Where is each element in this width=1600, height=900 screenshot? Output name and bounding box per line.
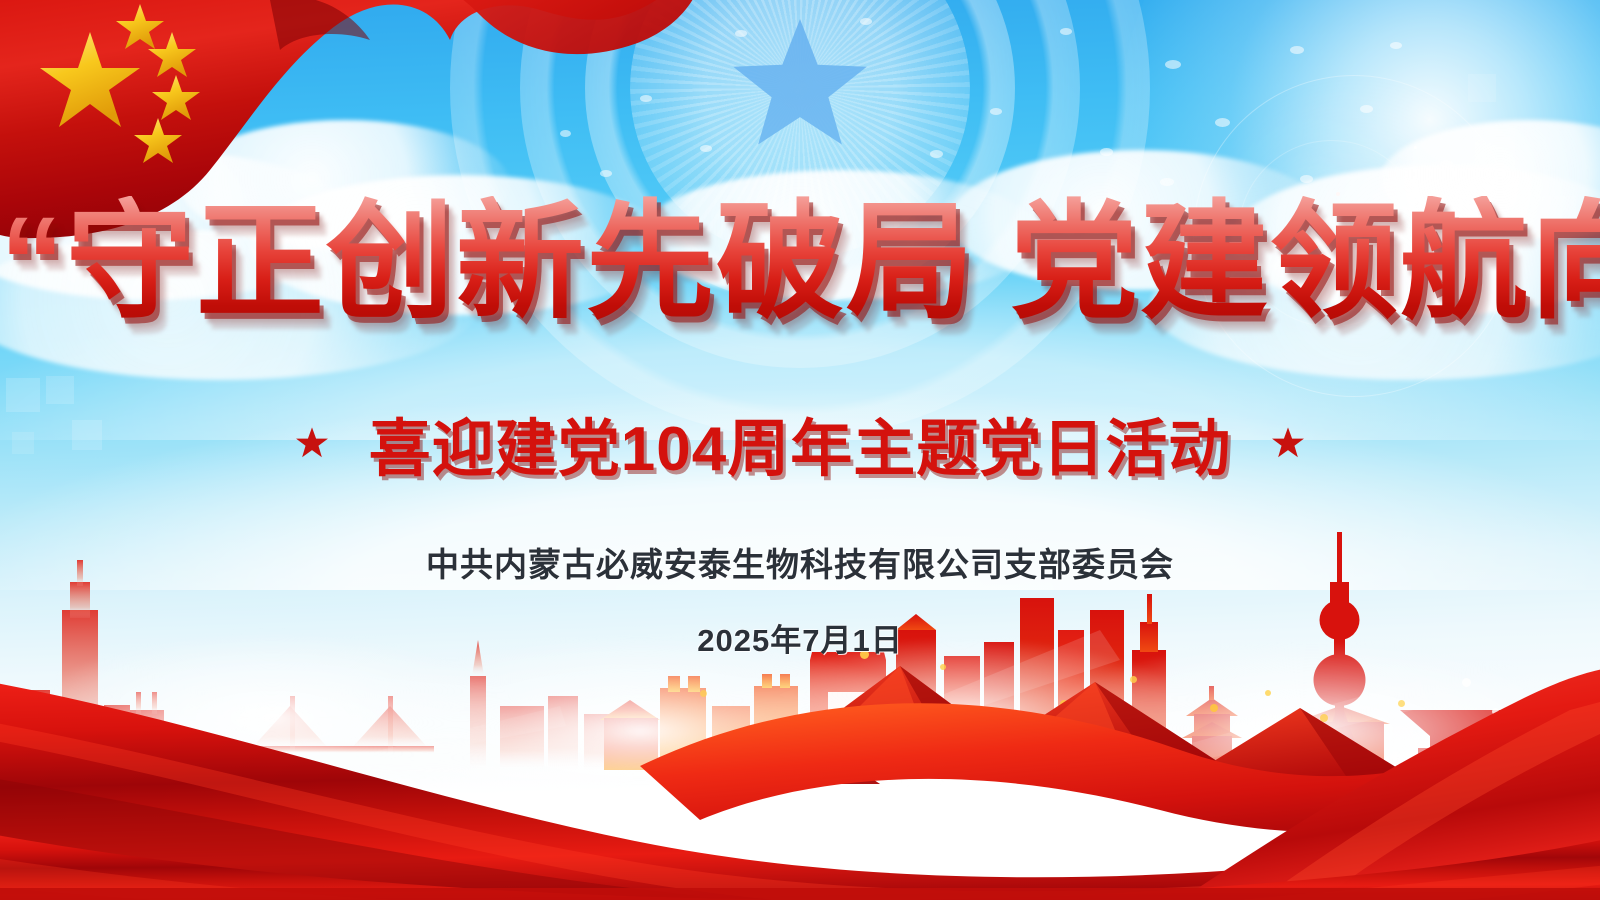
subtitle: 喜迎建党104周年主题党日活动 bbox=[369, 398, 1231, 488]
party-day-event-poster: “守正创新先破局党建领航向阳生” 喜迎建党104周年主题党日活动 中共内蒙古必威… bbox=[0, 0, 1600, 900]
poster-text-layer: “守正创新先破局党建领航向阳生” 喜迎建党104周年主题党日活动 中共内蒙古必威… bbox=[0, 0, 1600, 900]
subtitle-row: 喜迎建党104周年主题党日活动 bbox=[0, 398, 1600, 488]
star-icon-left bbox=[295, 426, 329, 460]
star-icon-right bbox=[1271, 426, 1305, 460]
main-title-right: 党建领航向阳生” bbox=[1010, 191, 1600, 334]
main-title-left: “守正创新先破局 bbox=[0, 191, 976, 334]
organization-name: 中共内蒙古必威安泰生物科技有限公司支部委员会 bbox=[0, 538, 1600, 586]
event-date: 2025年7月1日 bbox=[0, 615, 1600, 660]
page-title: “守正创新先破局党建领航向阳生” bbox=[0, 196, 1600, 330]
